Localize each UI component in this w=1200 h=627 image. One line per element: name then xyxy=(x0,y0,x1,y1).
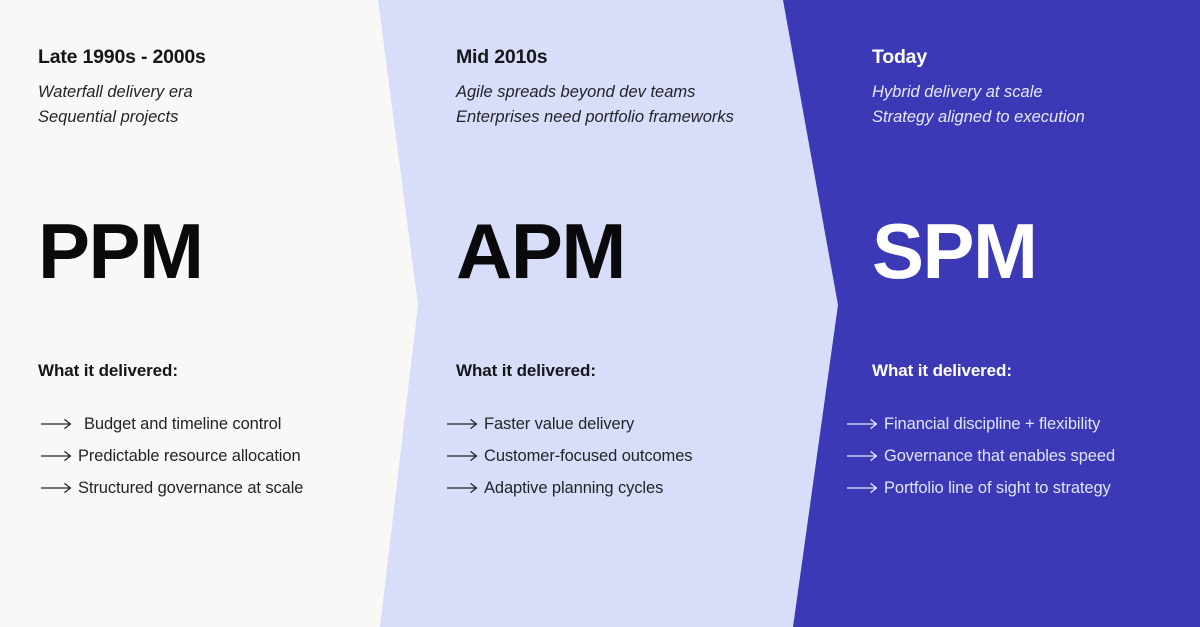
acronym-spm: SPM xyxy=(872,212,1037,290)
panel-ppm: Late 1990s - 2000s Waterfall delivery er… xyxy=(0,0,398,627)
list-item: Budget and timeline control xyxy=(40,408,303,440)
era-label: Mid 2010s xyxy=(456,46,547,69)
list-item: Faster value delivery xyxy=(446,408,692,440)
delivered-heading: What it delivered: xyxy=(38,361,178,381)
list-item-label: Structured governance at scale xyxy=(78,479,303,498)
delivered-list: Faster value delivery Customer-focused o… xyxy=(446,408,692,504)
acronym-apm: APM xyxy=(456,212,625,290)
long-right-arrow-icon xyxy=(40,482,78,494)
panel-spm: Today Hybrid delivery at scale Strategy … xyxy=(838,0,1200,627)
list-item-label: Governance that enables speed xyxy=(884,447,1115,466)
long-right-arrow-icon xyxy=(446,418,484,430)
era-subtitle: Hybrid delivery at scale Strategy aligne… xyxy=(872,80,1085,129)
list-item-label: Financial discipline + flexibility xyxy=(884,415,1100,434)
list-item-label: Budget and timeline control xyxy=(78,415,281,434)
list-item-label: Predictable resource allocation xyxy=(78,447,301,466)
era-subtitle: Waterfall delivery era Sequential projec… xyxy=(38,80,193,129)
list-item-label: Portfolio line of sight to strategy xyxy=(884,479,1111,498)
long-right-arrow-icon xyxy=(846,450,884,462)
era-subtitle-line-1: Waterfall delivery era xyxy=(38,80,193,105)
long-right-arrow-icon xyxy=(40,418,78,430)
list-item: Portfolio line of sight to strategy xyxy=(846,472,1115,504)
era-subtitle-line-2: Strategy aligned to execution xyxy=(872,105,1085,130)
list-item: Predictable resource allocation xyxy=(40,440,303,472)
delivered-heading: What it delivered: xyxy=(456,361,596,381)
long-right-arrow-icon xyxy=(446,482,484,494)
long-right-arrow-icon xyxy=(846,482,884,494)
delivered-list: Budget and timeline control Predictable … xyxy=(40,408,303,504)
era-label: Late 1990s - 2000s xyxy=(38,46,206,69)
era-subtitle-line-1: Agile spreads beyond dev teams xyxy=(456,80,734,105)
list-item: Governance that enables speed xyxy=(846,440,1115,472)
list-item: Financial discipline + flexibility xyxy=(846,408,1115,440)
era-subtitle-line-1: Hybrid delivery at scale xyxy=(872,80,1085,105)
long-right-arrow-icon xyxy=(40,450,78,462)
list-item-label: Faster value delivery xyxy=(484,415,634,434)
list-item: Structured governance at scale xyxy=(40,472,303,504)
era-subtitle-line-2: Enterprises need portfolio frameworks xyxy=(456,105,734,130)
infographic-canvas: Late 1990s - 2000s Waterfall delivery er… xyxy=(0,0,1200,627)
acronym-ppm: PPM xyxy=(38,212,203,290)
delivered-heading: What it delivered: xyxy=(872,361,1012,381)
list-item: Customer-focused outcomes xyxy=(446,440,692,472)
list-item-label: Adaptive planning cycles xyxy=(484,479,663,498)
era-subtitle: Agile spreads beyond dev teams Enterpris… xyxy=(456,80,734,129)
list-item-label: Customer-focused outcomes xyxy=(484,447,692,466)
long-right-arrow-icon xyxy=(446,450,484,462)
era-label: Today xyxy=(872,46,927,69)
list-item: Adaptive planning cycles xyxy=(446,472,692,504)
era-subtitle-line-2: Sequential projects xyxy=(38,105,193,130)
long-right-arrow-icon xyxy=(846,418,884,430)
panel-apm: Mid 2010s Agile spreads beyond dev teams… xyxy=(418,0,826,627)
delivered-list: Financial discipline + flexibility Gover… xyxy=(846,408,1115,504)
